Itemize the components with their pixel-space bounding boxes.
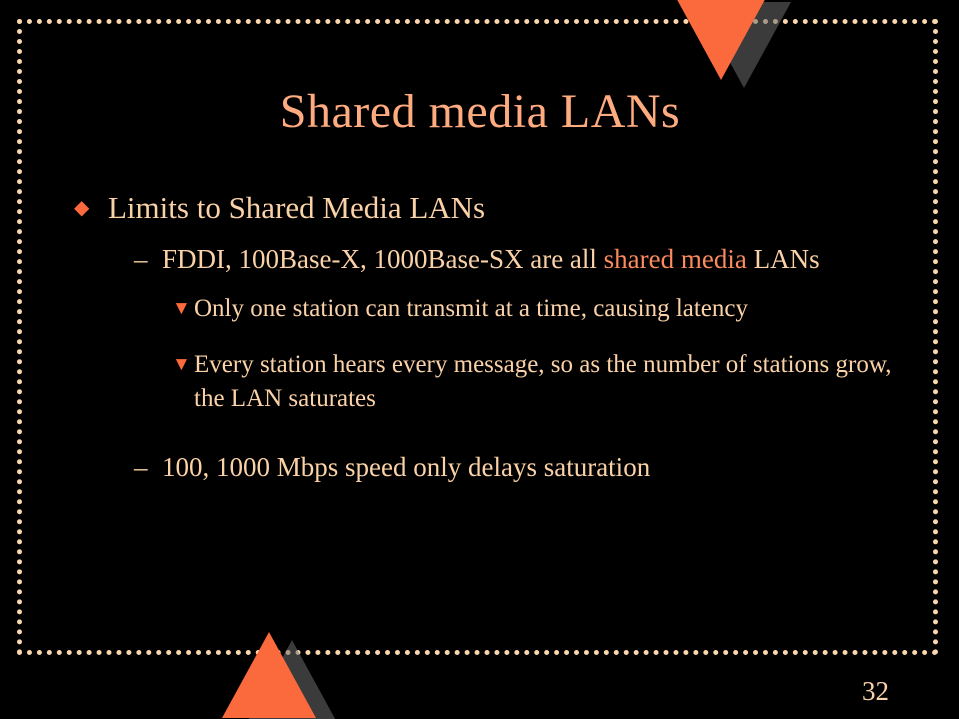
bullet-level2: – 100, 1000 Mbps speed only delays satur… (60, 450, 910, 484)
triangle-up-fill (222, 632, 316, 718)
bullet-text-highlight: shared media (604, 244, 747, 274)
bullet-level1: ◆ Limits to Shared Media LANs (60, 188, 910, 228)
slide-title: Shared media LANs (40, 84, 920, 140)
bullet-level2-text: 100, 1000 Mbps speed only delays saturat… (162, 450, 910, 484)
spacer (60, 338, 910, 348)
slide-body: ◆ Limits to Shared Media LANs – FDDI, 10… (60, 188, 910, 490)
dash-bullet-icon: – (134, 450, 162, 484)
bullet-text-before: FDDI, 100Base-X, 1000Base-SX are all (162, 244, 604, 274)
bullet-level3: ▼ Every station hears every message, so … (60, 348, 910, 416)
spacer (60, 428, 910, 450)
bullet-level2-text: FDDI, 100Base-X, 1000Base-SX are all sha… (162, 242, 910, 276)
triangle-down-bullet-icon: ▼ (172, 292, 194, 326)
bullet-level1-text: Limits to Shared Media LANs (108, 188, 910, 228)
page-number: 32 (862, 676, 889, 706)
spacer (60, 282, 910, 292)
dash-bullet-icon: – (134, 242, 162, 276)
bullet-level3-text: Only one station can transmit at a time,… (194, 292, 910, 326)
bullet-level3-text: Every station hears every message, so as… (194, 348, 910, 416)
triangle-down-fill (674, 0, 768, 80)
bullet-level2: – FDDI, 100Base-X, 1000Base-SX are all s… (60, 242, 910, 276)
triangle-up-icon (222, 632, 362, 719)
diamond-bullet-icon: ◆ (74, 188, 108, 228)
presentation-slide: Shared media LANs ◆ Limits to Shared Med… (0, 0, 959, 719)
bullet-text-after: LANs (747, 244, 820, 274)
bullet-level3: ▼ Only one station can transmit at a tim… (60, 292, 910, 326)
triangle-down-bullet-icon: ▼ (172, 348, 194, 382)
triangle-down-icon (674, 0, 804, 94)
